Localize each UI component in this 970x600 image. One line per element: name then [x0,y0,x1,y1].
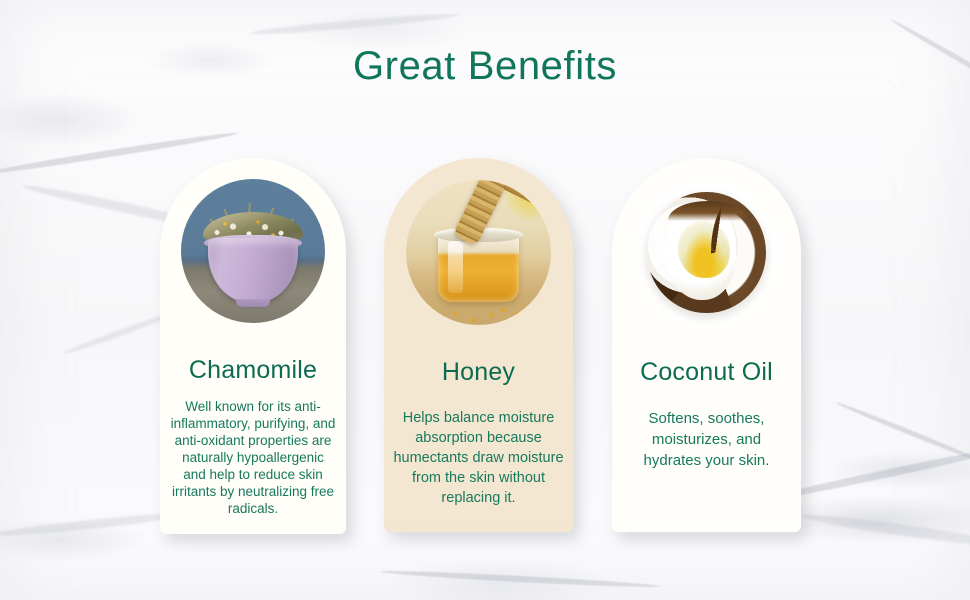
page-title: Great Benefits [0,44,970,88]
card-title-honey: Honey [384,358,573,386]
benefit-card-chamomile[interactable]: Chamomile Well known for its anti-inflam… [160,158,346,534]
benefit-card-honey[interactable]: Honey Helps balance moisture absorption … [384,158,573,532]
card-body-coconut: Softens, soothes, moisturizes, and hydra… [612,408,801,471]
card-body-chamomile: Well known for its anti-inflammatory, pu… [160,398,346,517]
honey-jar-photo [406,180,551,325]
card-body-honey: Helps balance moisture absorption becaus… [384,408,573,508]
card-title-coconut: Coconut Oil [612,358,801,386]
coconut-oil-photo [634,180,779,325]
card-title-chamomile: Chamomile [160,356,346,384]
chamomile-bowl-photo [181,179,325,323]
benefits-card-group: Chamomile Well known for its anti-inflam… [0,0,970,600]
benefit-card-coconut[interactable]: Coconut Oil Softens, soothes, moisturize… [612,158,801,532]
